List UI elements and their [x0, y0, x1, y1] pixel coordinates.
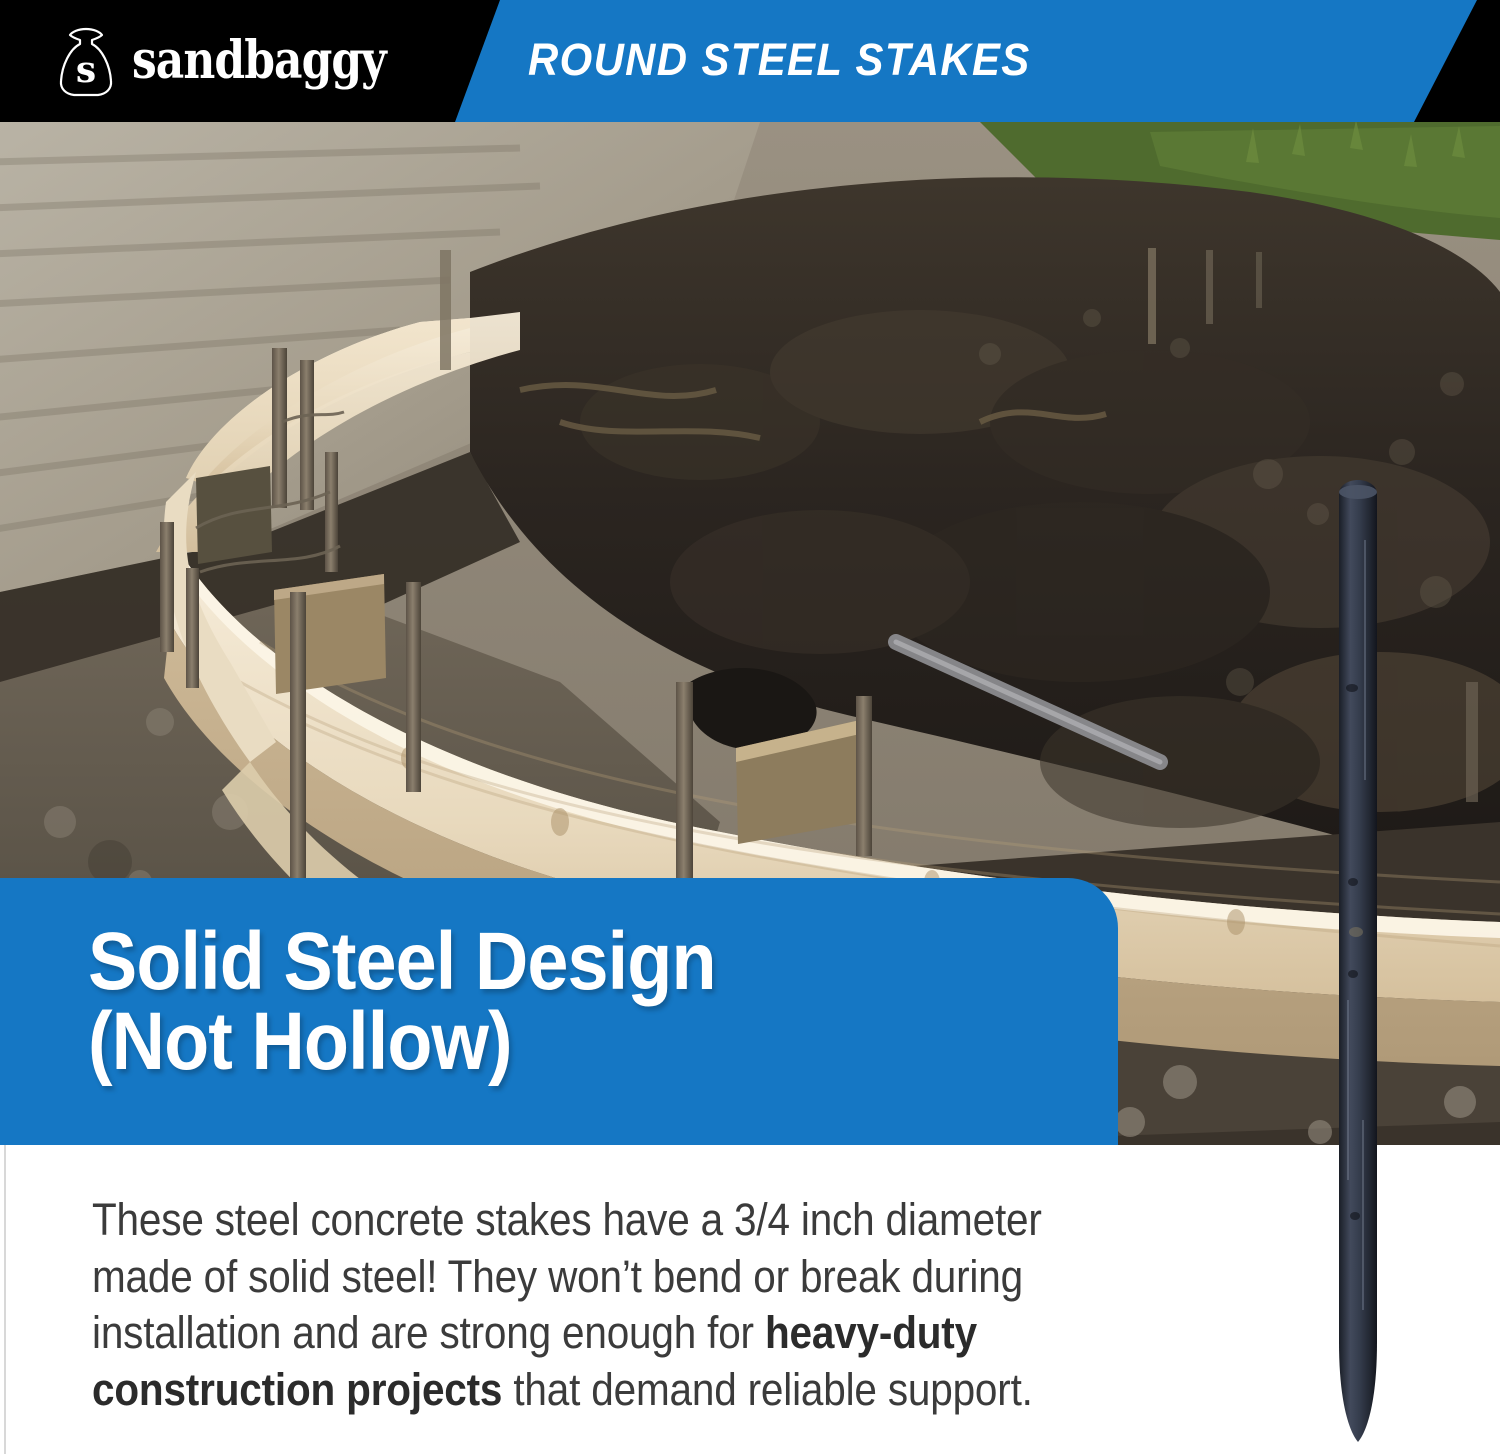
brand-logo[interactable]: s sandbaggy [54, 20, 402, 102]
brand-wordmark: sandbaggy [132, 35, 386, 87]
body-segment-3: that demand reliable support. [502, 1364, 1032, 1415]
headline-banner: Solid Steel Design (Not Hollow) [0, 878, 1118, 1145]
header-bar: s sandbaggy ROUND STEEL STAKES [0, 0, 1500, 122]
body-copy: These steel concrete stakes have a 3/4 i… [92, 1192, 1096, 1419]
headline-text: Solid Steel Design (Not Hollow) [88, 922, 988, 1081]
left-rule-divider [4, 1145, 6, 1454]
infographic-canvas: s sandbaggy ROUND STEEL STAKES [0, 0, 1500, 1454]
header-title: ROUND STEEL STAKES [528, 34, 1031, 86]
sandbag-icon: s [54, 25, 118, 97]
svg-text:s: s [76, 49, 96, 91]
round-steel-stake [1335, 480, 1381, 1445]
